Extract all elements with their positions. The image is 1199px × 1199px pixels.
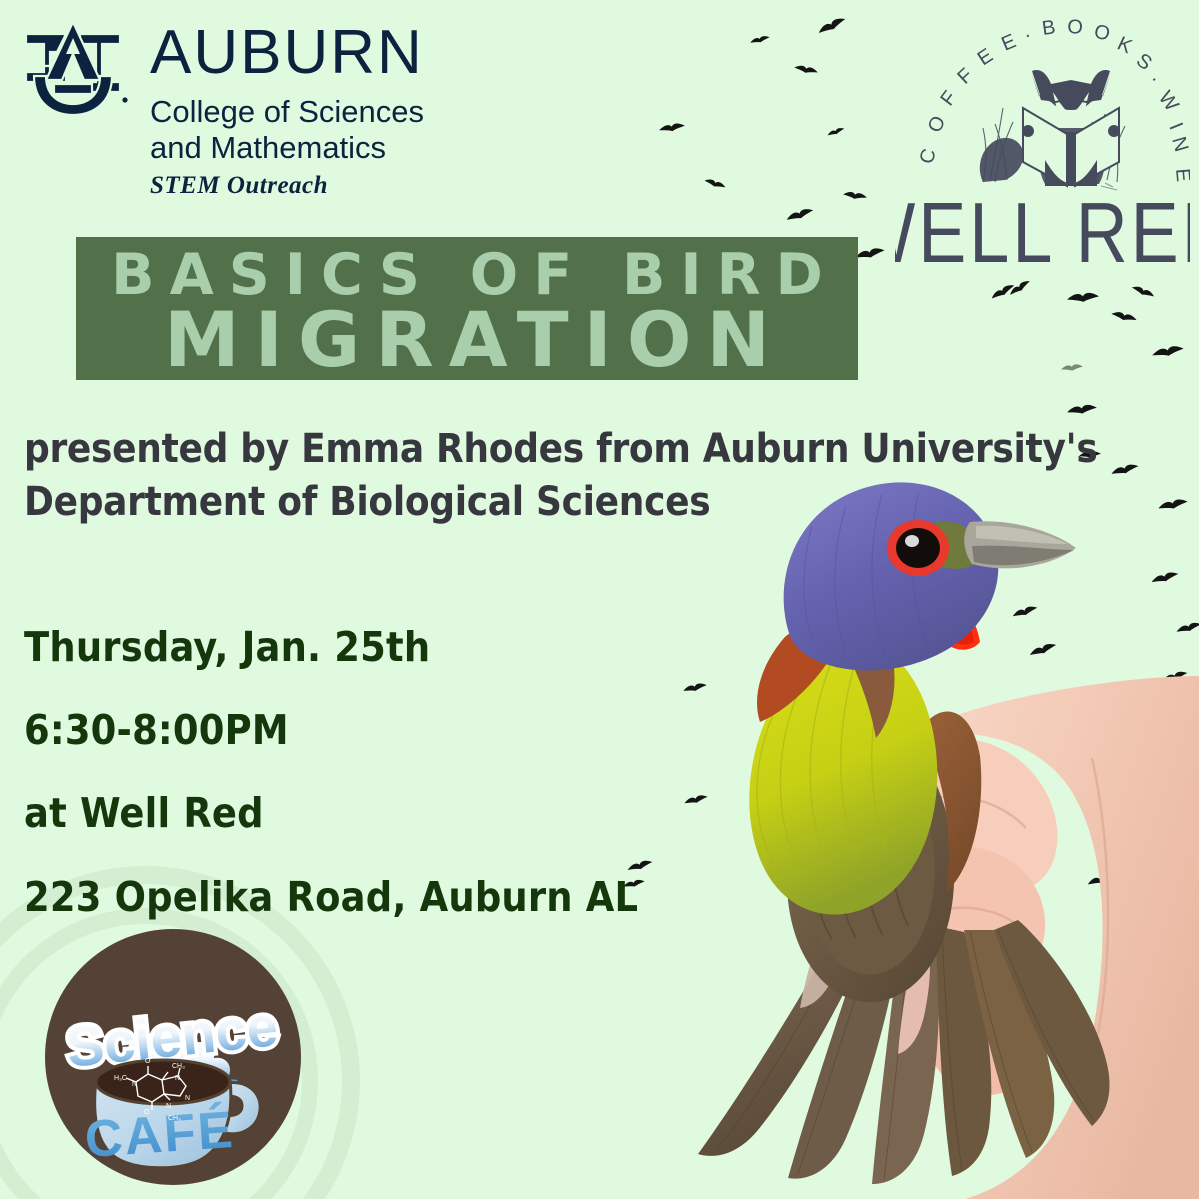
svg-text:O: O <box>924 113 951 137</box>
well-red-wordmark: WELL RED <box>895 185 1190 280</box>
svg-text:I: I <box>1164 120 1186 133</box>
painted-bunting-photo <box>640 440 1199 1199</box>
event-details-block: Thursday, Jan. 25th 6:30-8:00PM at Well … <box>24 606 704 939</box>
svg-text:N: N <box>1167 134 1190 154</box>
svg-text:F: F <box>936 87 961 110</box>
svg-text:H₃C: H₃C <box>114 1075 127 1082</box>
bird-eye <box>887 520 949 576</box>
svg-text:CH₃: CH₃ <box>168 1115 181 1122</box>
fox-reading-book-icon <box>980 70 1125 190</box>
svg-text:B: B <box>1041 16 1057 40</box>
event-venue: at Well Red <box>24 772 704 855</box>
event-address: 223 Opelika Road, Auburn AL <box>24 856 704 939</box>
svg-text:·: · <box>1022 24 1034 47</box>
bird-beak <box>964 521 1076 568</box>
svg-text:N: N <box>185 1095 190 1102</box>
svg-text:E: E <box>974 44 997 70</box>
event-date: Thursday, Jan. 25th <box>24 606 704 689</box>
poster-title-banner: BASICS OF BIRD MIGRATION <box>76 237 858 380</box>
well-red-logo: C O F F E E · B O O K S · W I N E <box>895 0 1190 290</box>
cafe-word: CAFÉ <box>83 1101 236 1169</box>
auburn-subunit-label: STEM Outreach <box>150 172 424 200</box>
svg-text:W: W <box>1154 87 1183 115</box>
science-cafe-logo: Science Science CAFÉ H₃C N O CH₃ N <box>44 928 302 1186</box>
svg-text:·: · <box>1144 69 1164 89</box>
svg-text:E: E <box>1171 168 1190 183</box>
event-time: 6:30-8:00PM <box>24 689 704 772</box>
auburn-college-line-1: College of Sciences <box>150 94 424 130</box>
svg-text:S: S <box>1132 49 1156 75</box>
svg-text:N: N <box>175 1075 180 1082</box>
svg-text:F: F <box>953 64 977 88</box>
svg-text:O: O <box>144 1109 150 1116</box>
svg-text:O: O <box>145 1058 151 1065</box>
svg-text:K: K <box>1114 33 1136 59</box>
svg-text:C: C <box>916 146 941 166</box>
svg-text:N: N <box>166 1103 171 1110</box>
poster-canvas: AUBURN College of Sciences and Mathemati… <box>0 0 1199 1199</box>
auburn-college-line-2: and Mathematics <box>150 130 424 166</box>
svg-text:N: N <box>132 1081 137 1088</box>
auburn-au-interlock-logo-icon <box>14 16 132 120</box>
auburn-logo-lockup: AUBURN College of Sciences and Mathemati… <box>14 12 424 200</box>
svg-text:O: O <box>1092 21 1112 46</box>
svg-text:O: O <box>1067 16 1084 39</box>
auburn-wordmark: AUBURN <box>150 24 424 83</box>
svg-text:CH₃: CH₃ <box>172 1063 185 1070</box>
svg-text:E: E <box>998 30 1019 55</box>
title-line-2: MIGRATION <box>76 302 858 378</box>
